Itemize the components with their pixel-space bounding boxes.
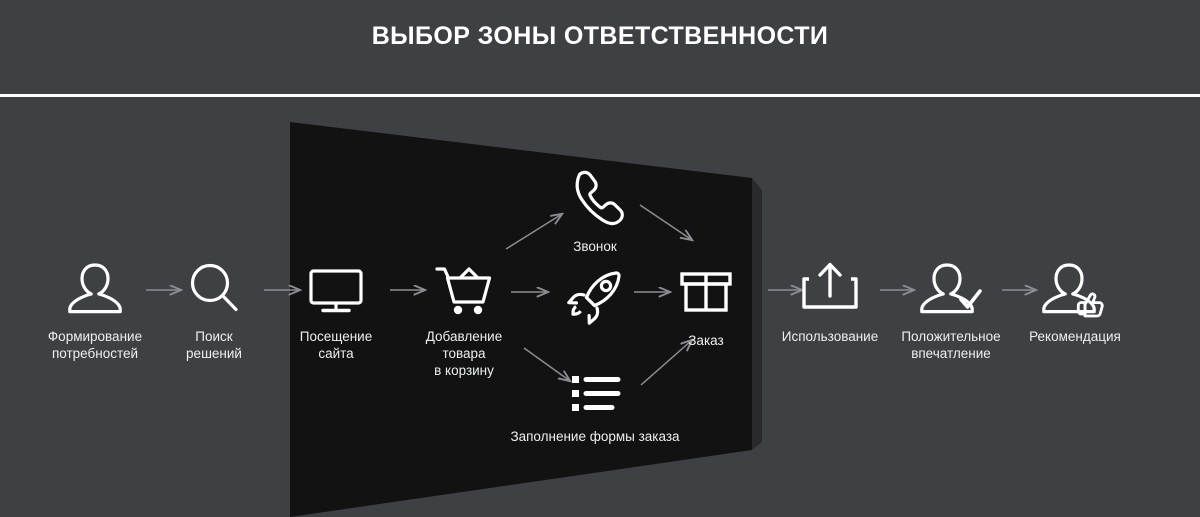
cart-icon xyxy=(389,258,539,320)
phone-icon xyxy=(520,168,670,230)
infographic-canvas: ВЫБОР ЗОНЫ ОТВЕТСТВЕННОСТИ xyxy=(0,0,1200,517)
list-icon xyxy=(480,368,710,420)
step-order-form[interactable]: Заполнение формы заказа xyxy=(480,368,710,445)
step-recommendation[interactable]: Рекомендация xyxy=(1000,258,1150,345)
step-label: Рекомендация xyxy=(1000,328,1150,345)
page-title: ВЫБОР ЗОНЫ ОТВЕТСТВЕННОСТИ xyxy=(0,22,1200,51)
step-label: Заполнение формы заказа xyxy=(480,428,710,445)
step-call[interactable]: Звонок xyxy=(520,168,670,255)
step-label: Звонок xyxy=(520,238,670,255)
step-add-to-cart[interactable]: Добавление товара в корзину xyxy=(389,258,539,379)
header-divider xyxy=(0,94,1200,97)
person-thumbsup-icon xyxy=(1000,258,1150,320)
